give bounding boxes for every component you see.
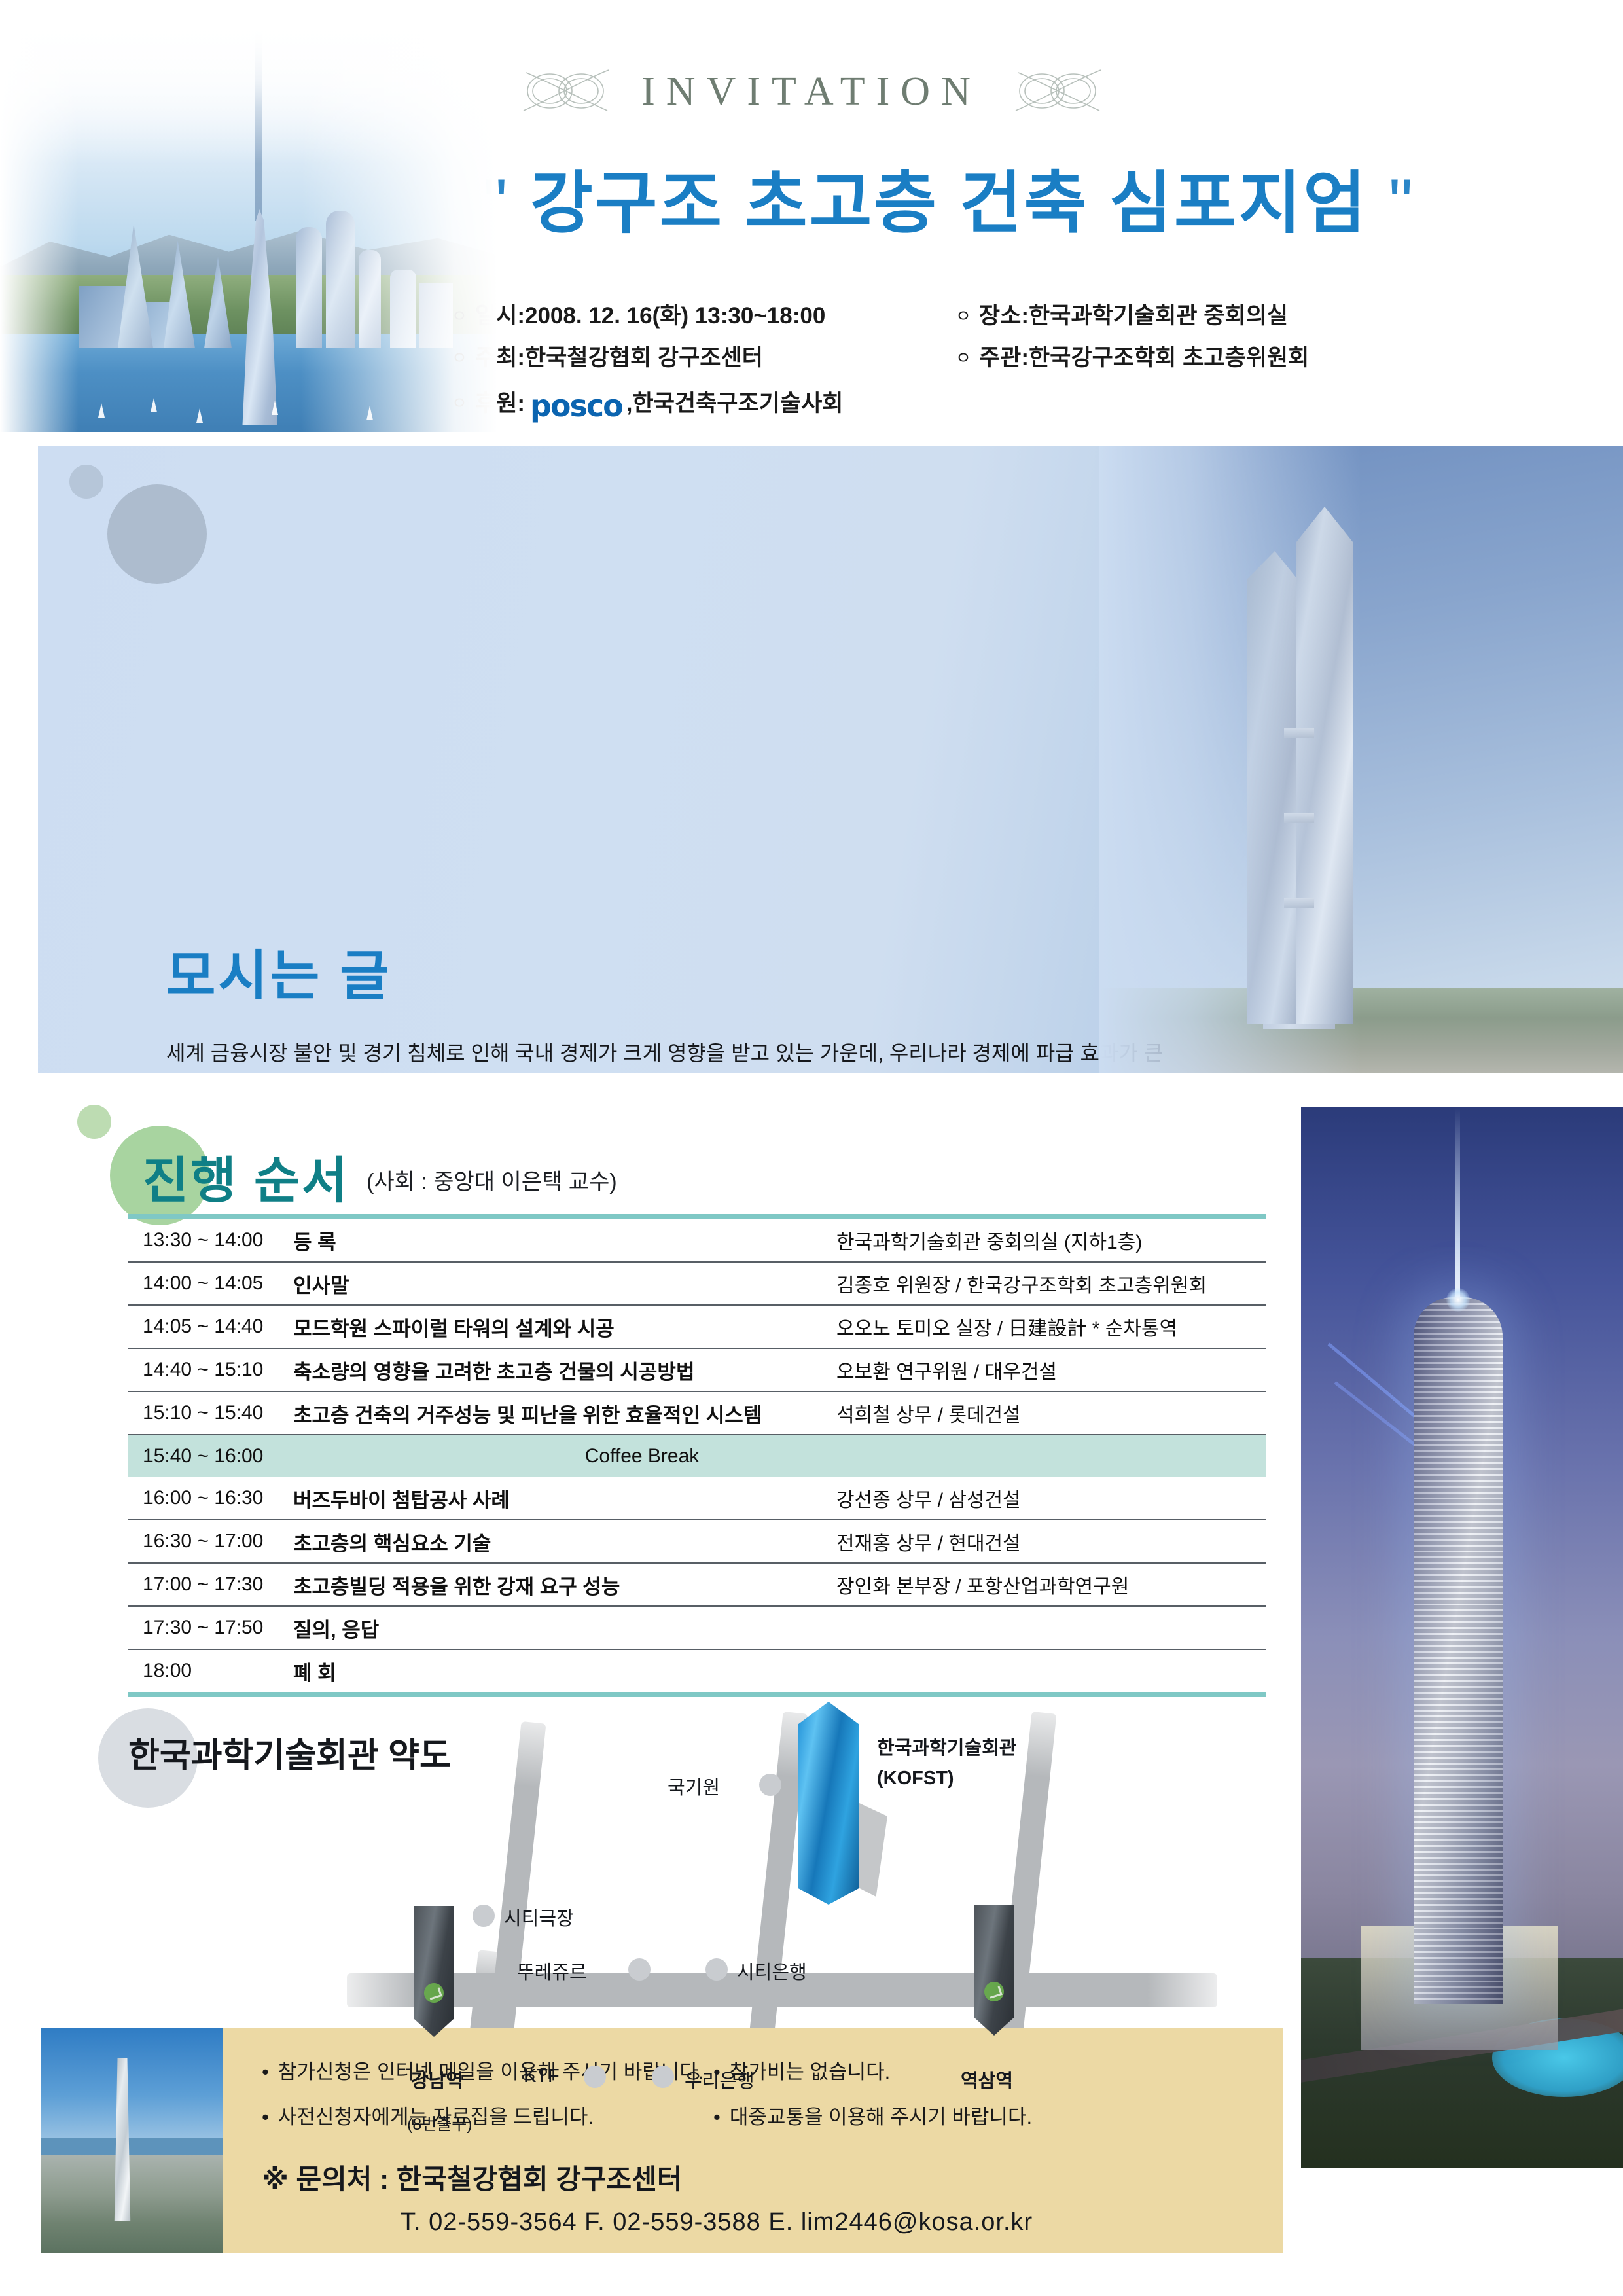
meta-row-sponsor: ㅇ 후원 : posco , 한국건축구조기술사회 bbox=[452, 388, 1538, 418]
row-time: 14:00 ~ 14:05 bbox=[128, 1272, 293, 1295]
table-row: 14:05 ~ 14:40 모드학원 스파이럴 타워의 설계와 시공 오오노 토… bbox=[128, 1306, 1266, 1349]
organizer-label: 주관 bbox=[979, 346, 1021, 369]
meta-row-host-organizer: ㅇ 주최 : 한국철강협회 강구조센터 ㅇ 주관 : 한국강구조학회 초고층위원… bbox=[452, 346, 1538, 369]
row-speaker: 김종호 위원장 / 한국강구조학회 초고층위원회 bbox=[836, 1269, 1266, 1298]
row-speaker: 장인화 본부장 / 포항산업과학연구원 bbox=[836, 1570, 1266, 1599]
label-woori-bank: 우리은행 bbox=[685, 2066, 755, 2093]
row-time: 14:40 ~ 15:10 bbox=[128, 1359, 293, 1381]
table-row: 17:00 ~ 17:30 초고층빌딩 적용을 위한 강재 요구 성능 장인화 … bbox=[128, 1564, 1266, 1607]
map-pin-citibank bbox=[705, 1958, 728, 1981]
cityscape-hero-image bbox=[0, 13, 497, 432]
row-time: 18:00 bbox=[128, 1660, 293, 1682]
table-row: 14:40 ~ 15:10 축소량의 영향을 고려한 초고층 건물의 시공방법 … bbox=[128, 1349, 1266, 1392]
footer-note: •대중교통을 이용해 주시기 바랍니다. bbox=[713, 2107, 1243, 2127]
decorative-dot-small bbox=[69, 465, 103, 499]
label-gangnam-exit: (8번출구) bbox=[407, 2111, 473, 2135]
title-text: 강구조 초고층 건축 심포지엄 bbox=[530, 166, 1368, 242]
row-time: 15:10 ~ 15:40 bbox=[128, 1402, 293, 1424]
bullet-icon: • bbox=[262, 2060, 269, 2083]
row-time: 17:00 ~ 17:30 bbox=[128, 1573, 293, 1596]
row-title: 버즈두바이 첨탑공사 사례 bbox=[293, 1484, 836, 1513]
date-value: 2008. 12. 16(화) 13:30~18:00 bbox=[525, 304, 825, 327]
label-gangnam-station: 강남역 bbox=[411, 2066, 463, 2093]
row-title: 모드학원 스파이럴 타워의 설계와 시공 bbox=[293, 1312, 836, 1342]
kofst-building-icon bbox=[798, 1702, 859, 1905]
flourish-right-icon bbox=[1012, 62, 1103, 121]
greeting-panel: 모시는 글 세계 금융시장 불안 및 경기 침체로 인해 국내 경제가 크게 영… bbox=[38, 446, 1623, 1073]
invitation-word: INVITATION bbox=[641, 69, 982, 115]
row-time: 16:00 ~ 16:30 bbox=[128, 1487, 293, 1509]
row-speaker: 강선종 상무 / 삼성건설 bbox=[836, 1484, 1266, 1513]
organizer-value: 한국강구조학회 초고층위원회 bbox=[1029, 346, 1309, 369]
table-row: 16:30 ~ 17:00 초고층의 핵심요소 기술 전재홍 상무 / 현대건설 bbox=[128, 1520, 1266, 1564]
bullet-icon: • bbox=[262, 2106, 269, 2128]
map-title: 한국과학기술회관 약도 bbox=[128, 1728, 451, 1777]
map-pin-city-theater bbox=[473, 1905, 495, 1927]
row-speaker: 전재홍 상무 / 현대건설 bbox=[836, 1527, 1266, 1556]
meta-venue: ㅇ 장소 : 한국과학기술회관 중회의실 bbox=[955, 304, 1538, 327]
subway-marker-yeoksam bbox=[974, 1905, 1014, 2036]
table-row: 16:00 ~ 16:30 버즈두바이 첨탑공사 사례 강선종 상무 / 삼성건… bbox=[128, 1477, 1266, 1520]
bullet-icon: ㅇ bbox=[955, 308, 971, 325]
row-title: 초고층빌딩 적용을 위한 강재 요구 성능 bbox=[293, 1570, 836, 1600]
decorative-dot-green-small bbox=[77, 1105, 111, 1139]
label-citibank: 시티은행 bbox=[737, 1957, 807, 1984]
map-pin-tourlesjours bbox=[628, 1958, 651, 1981]
label-ktf: KTF bbox=[524, 2066, 560, 2087]
row-time: 14:05 ~ 14:40 bbox=[128, 1316, 293, 1338]
subway-logo-icon bbox=[424, 1983, 444, 2003]
contact-details: T. 02-559-3564 F. 02-559-3588 E. lim2446… bbox=[401, 2208, 1033, 2236]
flourish-left-icon bbox=[520, 62, 611, 121]
event-meta: ㅇ 일시 : 2008. 12. 16(화) 13:30~18:00 ㅇ 장소 … bbox=[452, 304, 1538, 437]
row-speaker: 오오노 토미오 실장 / 日建設計 * 순차통역 bbox=[836, 1312, 1266, 1341]
program-moderator: (사회 : 중앙대 이은택 교수) bbox=[366, 1164, 617, 1196]
row-title: 축소량의 영향을 고려한 초고층 건물의 시공방법 bbox=[293, 1355, 836, 1385]
table-top-rule bbox=[128, 1214, 1266, 1219]
meta-organizer: ㅇ 주관 : 한국강구조학회 초고층위원회 bbox=[955, 346, 1538, 369]
table-row: 14:00 ~ 14:05 인사말 김종호 위원장 / 한국강구조학회 초고층위… bbox=[128, 1263, 1266, 1306]
row-title: 질의, 응답 bbox=[293, 1613, 836, 1643]
meta-sponsor: ㅇ 후원 : posco , 한국건축구조기술사회 bbox=[452, 388, 955, 418]
venue-label: 장소 bbox=[979, 304, 1021, 327]
table-row: 15:10 ~ 15:40 초고층 건축의 거주성능 및 피난을 위한 효율적인… bbox=[128, 1392, 1266, 1435]
meta-date: ㅇ 일시 : 2008. 12. 16(화) 13:30~18:00 bbox=[452, 304, 955, 327]
lotte-tower-image bbox=[41, 2028, 228, 2253]
subway-logo-icon bbox=[984, 1982, 1004, 2001]
colon-4: : bbox=[1021, 346, 1029, 369]
row-title: Coffee Break bbox=[293, 1445, 1266, 1467]
subway-marker-gangnam bbox=[414, 1906, 454, 2037]
row-time: 15:40 ~ 16:00 bbox=[128, 1445, 293, 1467]
footer-note: •사전신청자에게는 자료집을 드립니다. bbox=[262, 2107, 713, 2127]
map-pin-woori bbox=[652, 2066, 674, 2088]
skyscraper-render bbox=[1414, 1297, 1503, 2004]
twin-tower-render-image bbox=[1099, 446, 1623, 1073]
hero-section: INVITATION " 강구조 초고층 건축 심포지엄 " ㅇ 일시 bbox=[0, 0, 1623, 445]
footer-note: •참가신청은 인터넷 메일을 이용해 주시기 바랍니다. bbox=[262, 2062, 713, 2082]
colon-2: : bbox=[1021, 304, 1029, 327]
kofst-label: 한국과학기술회관 (KOFST) bbox=[877, 1733, 1016, 1793]
row-time: 13:30 ~ 14:00 bbox=[128, 1229, 293, 1251]
colon-1: : bbox=[517, 304, 525, 327]
host-value: 한국철강협회 강구조센터 bbox=[525, 346, 763, 369]
venue-value: 한국과학기술회관 중회의실 bbox=[1029, 304, 1288, 327]
map-pin-gukgiwon bbox=[759, 1774, 781, 1796]
kofst-label-line1: 한국과학기술회관 bbox=[877, 1733, 1016, 1763]
row-title: 인사말 bbox=[293, 1269, 836, 1299]
meta-host: ㅇ 주최 : 한국철강협회 강구조센터 bbox=[452, 346, 955, 369]
colon-5: : bbox=[517, 392, 525, 415]
label-gukgiwon: 국기원 bbox=[668, 1772, 720, 1800]
contact-heading: ※ 문의처 : 한국철강협회 강구조센터 bbox=[262, 2157, 682, 2197]
decorative-dot-large bbox=[107, 484, 207, 584]
title-close-quote: " bbox=[1389, 166, 1415, 242]
label-city-theater: 시티극장 bbox=[504, 1903, 574, 1931]
map-pin-ktf bbox=[584, 2066, 606, 2088]
row-title: 등 록 bbox=[293, 1226, 836, 1255]
bullet-icon: • bbox=[713, 2106, 721, 2128]
footer-note-text: 참가신청은 인터넷 메일을 이용해 주시기 바랍니다. bbox=[278, 2060, 704, 2083]
table-row: 17:30 ~ 17:50 질의, 응답 bbox=[128, 1607, 1266, 1650]
tower-light-beam bbox=[1455, 1107, 1460, 1304]
table-row-break: 15:40 ~ 16:00 Coffee Break bbox=[128, 1435, 1266, 1477]
comma-1: , bbox=[626, 392, 633, 415]
bullet-icon: ㅇ bbox=[955, 350, 971, 367]
sponsor-value: 한국건축구조기술사회 bbox=[633, 392, 844, 415]
posco-logo: posco bbox=[530, 391, 622, 421]
footer-note-text: 대중교통을 이용해 주시기 바랍니다. bbox=[730, 2106, 1032, 2128]
row-time: 16:30 ~ 17:00 bbox=[128, 1530, 293, 1552]
row-time: 17:30 ~ 17:50 bbox=[128, 1617, 293, 1639]
page-title: " 강구조 초고층 건축 심포지엄 " bbox=[340, 147, 1558, 246]
label-tourlesjours: 뚜레쥬르 bbox=[517, 1957, 587, 1984]
label-yeoksam-station: 역삼역 bbox=[961, 2066, 1013, 2093]
row-title: 초고층의 핵심요소 기술 bbox=[293, 1527, 836, 1556]
row-speaker: 석희철 상무 / 롯데건설 bbox=[836, 1399, 1266, 1427]
kofst-label-line2: (KOFST) bbox=[877, 1763, 1016, 1793]
colon-3: : bbox=[517, 346, 525, 369]
night-tower-image bbox=[1301, 1107, 1623, 2168]
row-speaker: 한국과학기술회관 중회의실 (지하1층) bbox=[836, 1226, 1266, 1255]
program-title: 진행 순서 bbox=[143, 1140, 349, 1212]
program-table: 13:30 ~ 14:00 등 록 한국과학기술회관 중회의실 (지하1층) 1… bbox=[128, 1214, 1266, 1697]
row-speaker: 오보환 연구위원 / 대우건설 bbox=[836, 1355, 1266, 1384]
greeting-title: 모시는 글 bbox=[166, 932, 392, 1010]
table-row: 13:30 ~ 14:00 등 록 한국과학기술회관 중회의실 (지하1층) bbox=[128, 1219, 1266, 1263]
row-title: 초고층 건축의 거주성능 및 피난을 위한 효율적인 시스템 bbox=[293, 1399, 836, 1428]
meta-row-date-venue: ㅇ 일시 : 2008. 12. 16(화) 13:30~18:00 ㅇ 장소 … bbox=[452, 304, 1538, 327]
